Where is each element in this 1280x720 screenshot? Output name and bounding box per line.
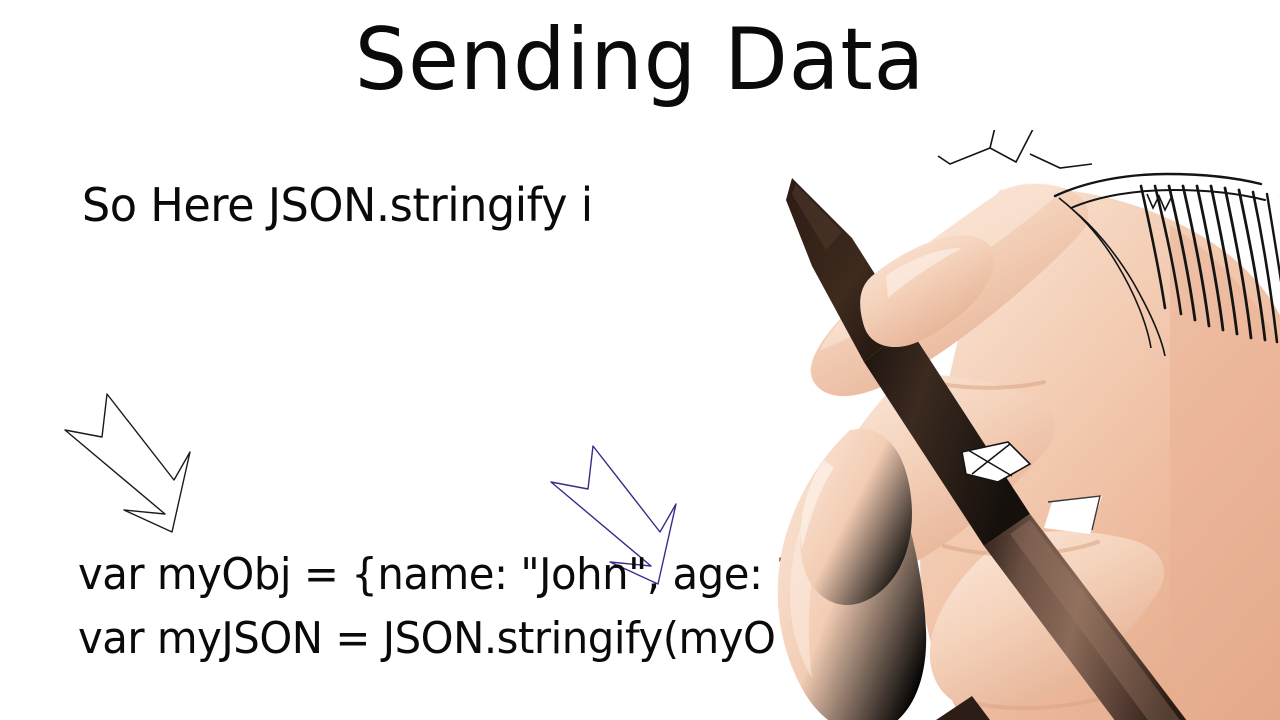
pen-grip	[864, 326, 1030, 546]
index-finger	[811, 184, 1089, 396]
index-fingertip-highlight	[886, 248, 962, 298]
ring-finger	[930, 531, 1164, 711]
index-fingertip-over-pen	[860, 235, 994, 347]
thumb-tip-over-pen	[801, 429, 912, 605]
hand-holding-pen	[700, 130, 1280, 720]
hand-illustration-svg	[700, 130, 1280, 720]
code-line-2: var myJSON = JSON.stringify(myO	[78, 612, 775, 666]
hand-back-mass	[920, 188, 1280, 720]
hand-drawn-arrow-black-icon	[62, 392, 242, 542]
pen-tip-highlight	[792, 184, 842, 250]
whiteboard-slide: Sending Data So Here JSON.stringify i va…	[0, 0, 1280, 720]
finger-gap-notch	[1044, 496, 1102, 534]
knuckle-crease-1	[910, 378, 1044, 388]
pen-clip	[936, 696, 1092, 720]
knuckle-crease-3	[968, 686, 1136, 708]
pen-barrel-sheen	[1010, 520, 1192, 720]
finger-gap-notch-2	[1048, 496, 1100, 530]
page-title: Sending Data	[26, 8, 1255, 112]
marker-pen	[786, 178, 1260, 720]
forearm-shadow	[1170, 225, 1280, 720]
thumb-tip-nail	[801, 460, 834, 548]
line-art-ring-icon	[962, 442, 1030, 482]
knuckle-crease-2	[944, 542, 1098, 555]
line-art-cap-outline-icon	[938, 130, 1092, 168]
line-art-sleeve-cuff-icon	[1055, 168, 1280, 398]
code-line-1: var myObj = {name: "John", age: 3	[78, 548, 801, 602]
pen-barrel	[984, 514, 1200, 720]
lead-sentence: So Here JSON.stringify i	[82, 176, 593, 234]
index-finger-shade	[820, 183, 1064, 350]
middle-finger	[821, 375, 1055, 575]
pen-tip	[786, 178, 908, 362]
